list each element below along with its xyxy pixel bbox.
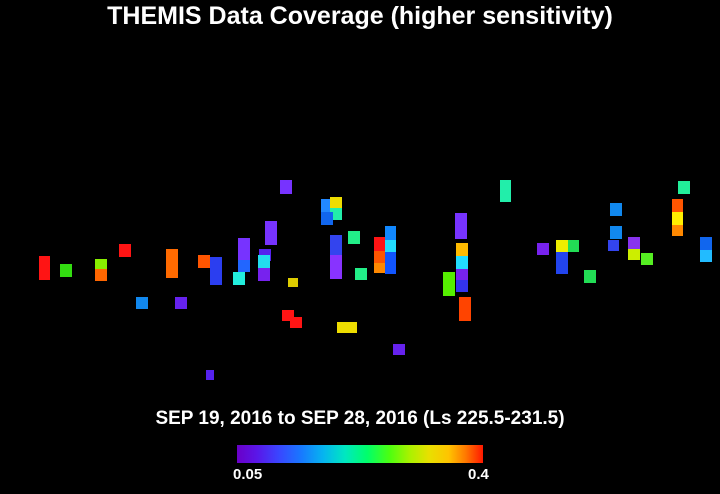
coverage-marker	[348, 231, 360, 244]
coverage-marker	[95, 269, 107, 281]
coverage-marker	[210, 257, 222, 285]
coverage-marker	[556, 240, 568, 252]
coverage-marker	[700, 250, 712, 262]
coverage-marker	[537, 243, 549, 255]
coverage-marker	[641, 253, 653, 265]
coverage-marker	[456, 256, 468, 269]
coverage-marker	[238, 238, 250, 260]
coverage-marker	[280, 180, 292, 194]
date-range-caption: SEP 19, 2016 to SEP 28, 2016 (Ls 225.5-2…	[0, 408, 720, 430]
coverage-marker	[119, 244, 131, 257]
coverage-marker	[556, 252, 568, 274]
coverage-marker	[628, 237, 640, 249]
colorbar-max-label: 0.4	[468, 466, 489, 483]
coverage-marker	[265, 221, 277, 245]
coverage-marker	[672, 225, 683, 236]
coverage-marker	[206, 370, 214, 380]
coverage-marker	[355, 268, 367, 280]
coverage-marker	[584, 270, 596, 283]
coverage-marker	[330, 255, 342, 279]
coverage-marker	[456, 280, 468, 292]
colorbar-gradient	[237, 445, 483, 463]
coverage-marker	[238, 260, 250, 272]
coverage-marker	[459, 297, 471, 321]
coverage-marker	[456, 243, 468, 256]
coverage-marker	[39, 256, 50, 280]
coverage-marker	[610, 226, 622, 239]
coverage-marker	[198, 255, 210, 268]
coverage-marker	[60, 264, 72, 277]
coverage-marker	[610, 203, 622, 216]
coverage-marker	[337, 322, 357, 333]
coverage-marker	[678, 181, 690, 194]
coverage-marker	[290, 317, 302, 328]
themis-coverage-figure: THEMIS Data Coverage (higher sensitivity…	[0, 0, 720, 494]
coverage-marker	[672, 212, 683, 225]
coverage-marker	[374, 263, 385, 273]
coverage-marker	[136, 297, 148, 309]
coverage-marker	[258, 255, 270, 268]
coverage-marker	[233, 272, 245, 285]
coverage-marker	[175, 297, 187, 309]
coverage-marker	[672, 199, 683, 212]
page-title: THEMIS Data Coverage (higher sensitivity…	[0, 2, 720, 31]
coverage-marker	[500, 180, 511, 202]
colorbar	[237, 445, 483, 463]
coverage-marker	[385, 252, 396, 274]
coverage-marker	[374, 251, 385, 263]
coverage-marker	[288, 278, 298, 287]
coverage-map-canvas	[0, 55, 720, 395]
coverage-marker	[330, 197, 342, 208]
coverage-marker	[321, 212, 333, 225]
colorbar-min-label: 0.05	[233, 466, 262, 483]
coverage-marker	[95, 259, 107, 269]
coverage-marker	[258, 268, 270, 281]
coverage-marker	[330, 235, 342, 255]
coverage-marker	[628, 249, 640, 260]
coverage-marker	[374, 237, 385, 251]
coverage-marker	[700, 237, 712, 250]
coverage-marker	[385, 226, 396, 240]
coverage-marker	[385, 240, 396, 252]
coverage-marker	[443, 272, 455, 296]
coverage-marker	[568, 240, 579, 252]
coverage-marker	[608, 240, 619, 251]
coverage-marker	[455, 213, 467, 239]
coverage-marker	[166, 249, 178, 278]
coverage-marker	[393, 344, 405, 355]
coverage-marker	[456, 269, 468, 280]
